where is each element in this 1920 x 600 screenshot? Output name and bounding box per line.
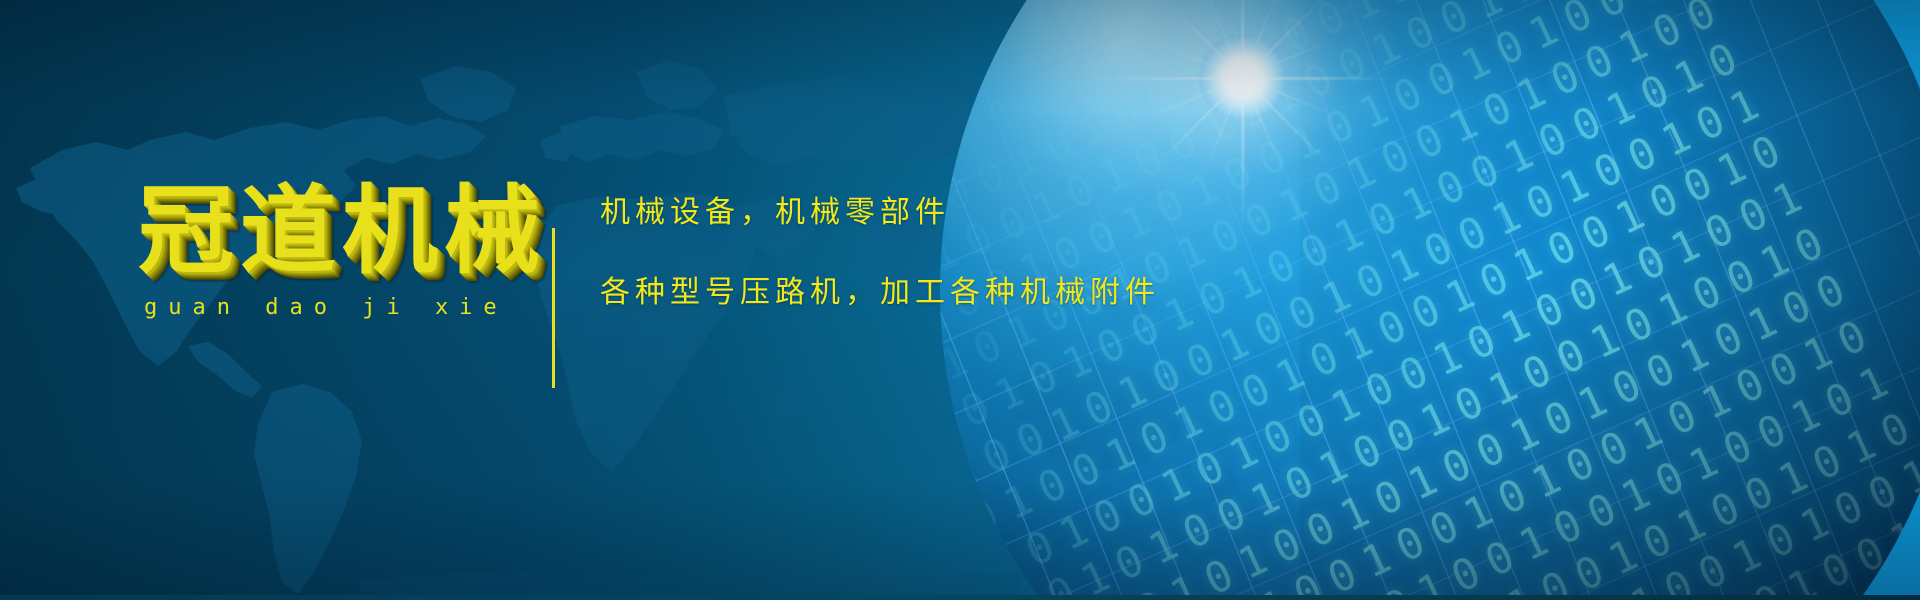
- bottom-edge-strip: [0, 595, 1920, 600]
- tagline-secondary: 各种型号压路机，加工各种机械附件: [600, 278, 1160, 308]
- promo-banner: 1001010010010100101001001010010010100101…: [0, 0, 1920, 600]
- tagline-group: 机械设备，机械零部件 各种型号压路机，加工各种机械附件: [600, 198, 1160, 308]
- brand-name-pinyin: guan dao ji xie: [144, 295, 546, 320]
- brand-name-cn: 冠道机械: [138, 183, 546, 279]
- tagline-primary: 机械设备，机械零部件: [600, 198, 1160, 228]
- brand-logo[interactable]: 冠道机械 guan dao ji xie: [138, 183, 546, 320]
- vertical-divider: [552, 228, 555, 388]
